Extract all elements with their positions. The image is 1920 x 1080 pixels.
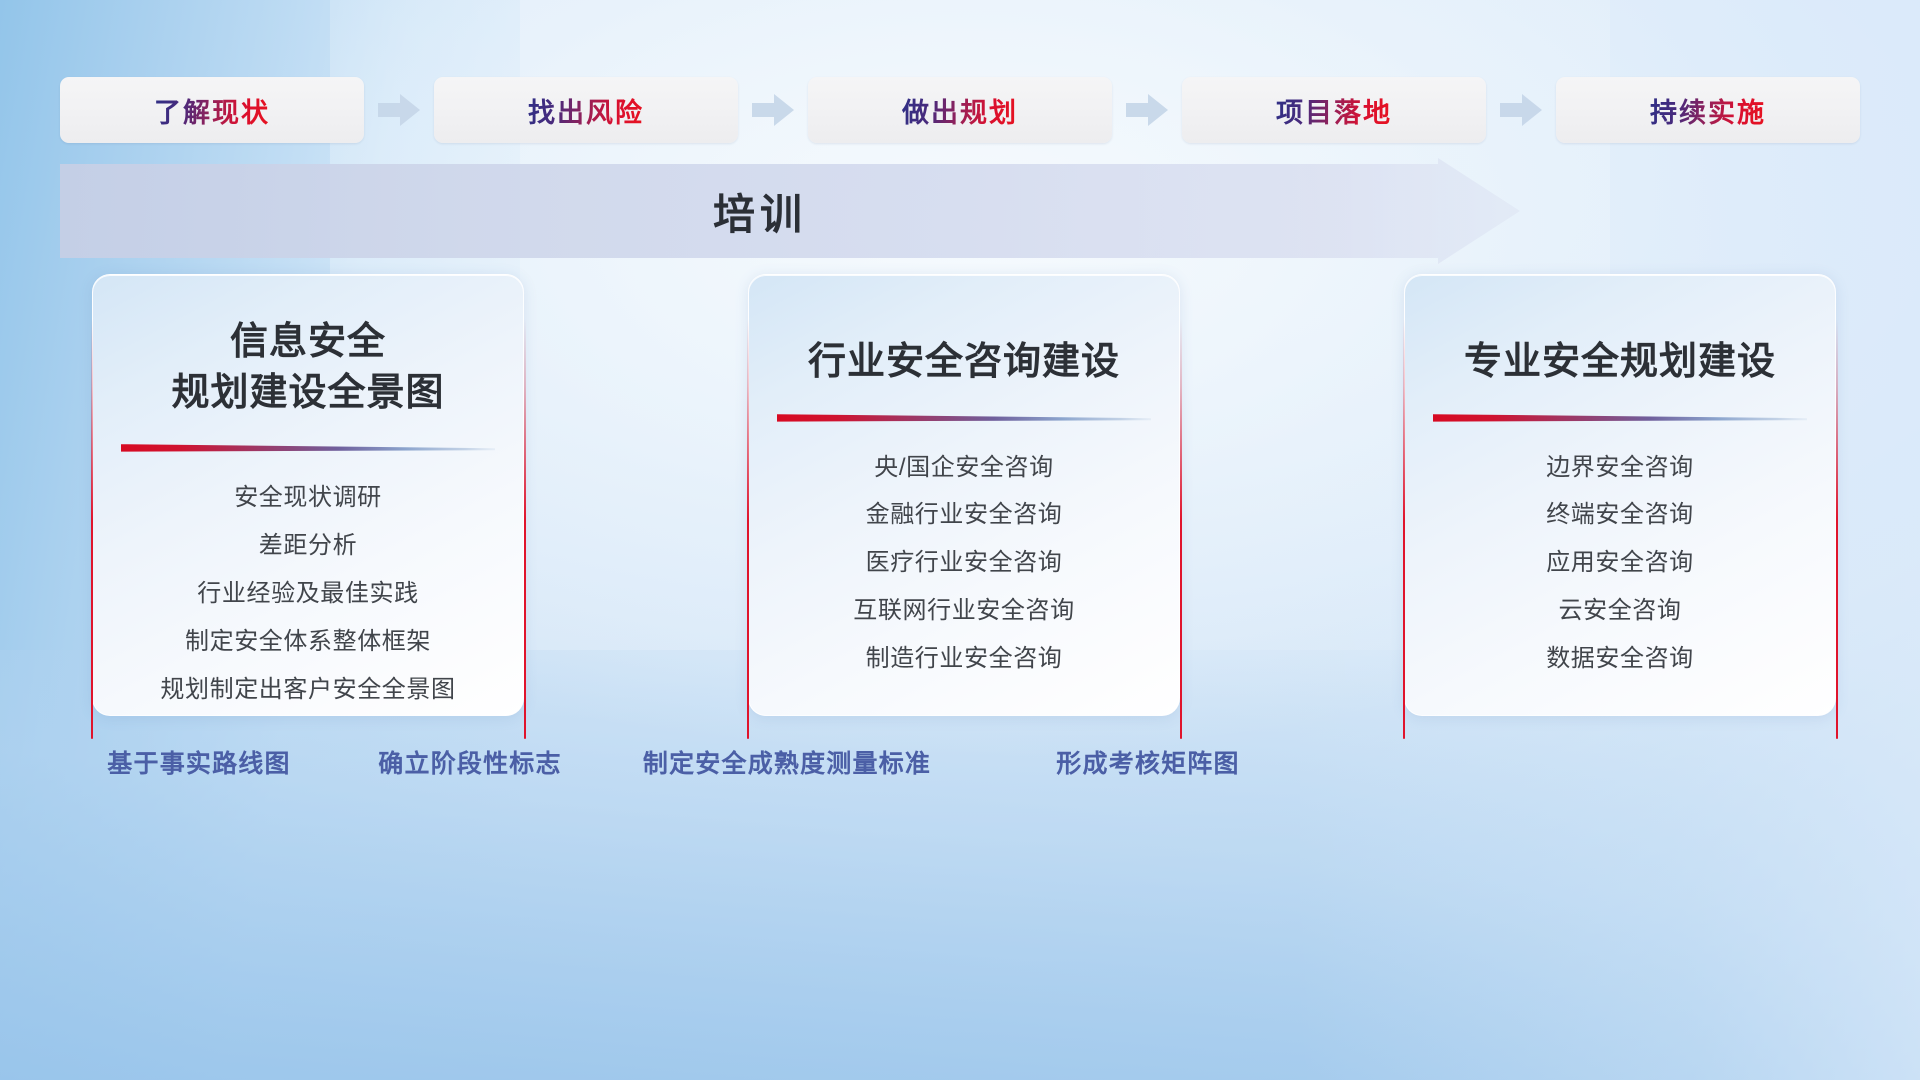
step-connector-3	[1112, 90, 1182, 130]
card-3-left-accent-rail	[1403, 319, 1405, 739]
arrow-right-icon	[378, 93, 420, 127]
list-item[interactable]: 云安全咨询	[1559, 592, 1682, 631]
step-box-5[interactable]: 持续实施	[1556, 77, 1860, 143]
footer-label-1: 基于事实路线图	[107, 744, 290, 780]
footer-labels-row: 基于事实路线图确立阶段性标志制定安全成熟度测量标准形成考核矩阵图	[0, 744, 1920, 788]
step-box-1[interactable]: 了解现状	[60, 77, 364, 143]
card-2[interactable]: 行业安全咨询建设央/国企安全咨询金融行业安全咨询医疗行业安全咨询互联网行业安全咨…	[748, 274, 1180, 716]
list-item[interactable]: 边界安全咨询	[1546, 449, 1694, 488]
banner-title: 培训	[60, 158, 1460, 264]
step-box-3[interactable]: 做出规划	[808, 77, 1112, 143]
training-banner: 培训	[60, 158, 1520, 264]
list-item[interactable]: 制造行业安全咨询	[866, 640, 1063, 679]
list-item[interactable]: 安全现状调研	[234, 479, 382, 518]
card-1-divider	[121, 440, 495, 453]
list-item[interactable]: 行业经验及最佳实践	[197, 575, 418, 614]
step-label-4: 项目落地	[1276, 91, 1392, 130]
card-2-right-accent-rail	[1180, 319, 1182, 739]
arrow-right-icon	[1500, 93, 1542, 127]
cards-row: 信息安全 规划建设全景图安全现状调研差距分析行业经验及最佳实践制定安全体系整体框…	[92, 274, 1836, 716]
card-1[interactable]: 信息安全 规划建设全景图安全现状调研差距分析行业经验及最佳实践制定安全体系整体框…	[92, 274, 524, 716]
arrow-right-icon	[1126, 93, 1168, 127]
card-3-title: 专业安全规划建设	[1464, 337, 1776, 388]
step-connector-4	[1486, 90, 1556, 130]
list-item[interactable]: 终端安全咨询	[1546, 496, 1694, 535]
step-box-2[interactable]: 找出风险	[434, 77, 738, 143]
card-3-list: 边界安全咨询终端安全咨询应用安全咨询云安全咨询数据安全咨询	[1427, 449, 1813, 679]
process-steps-row: 了解现状找出风险做出规划项目落地持续实施	[60, 76, 1860, 144]
list-item[interactable]: 央/国企安全咨询	[874, 449, 1053, 488]
card-2-divider	[777, 410, 1151, 423]
list-item[interactable]: 医疗行业安全咨询	[866, 544, 1063, 583]
card-1-left-accent-rail	[91, 319, 93, 739]
list-item[interactable]: 制定安全体系整体框架	[185, 623, 431, 662]
step-connector-2	[738, 90, 808, 130]
list-item[interactable]: 规划制定出客户安全全景图	[160, 671, 455, 710]
card-3-divider	[1433, 410, 1807, 423]
card-3[interactable]: 专业安全规划建设边界安全咨询终端安全咨询应用安全咨询云安全咨询数据安全咨询	[1404, 274, 1836, 716]
step-label-1: 了解现状	[154, 91, 270, 130]
list-item[interactable]: 金融行业安全咨询	[866, 496, 1063, 535]
step-label-2: 找出风险	[528, 91, 644, 130]
card-1-list: 安全现状调研差距分析行业经验及最佳实践制定安全体系整体框架规划制定出客户安全全景…	[115, 479, 501, 709]
arrow-right-icon	[752, 93, 794, 127]
step-box-4[interactable]: 项目落地	[1182, 77, 1486, 143]
list-item[interactable]: 互联网行业安全咨询	[853, 592, 1074, 631]
card-2-list: 央/国企安全咨询金融行业安全咨询医疗行业安全咨询互联网行业安全咨询制造行业安全咨…	[771, 449, 1157, 679]
step-label-3: 做出规划	[902, 91, 1018, 130]
card-2-title: 行业安全咨询建设	[808, 337, 1120, 388]
list-item[interactable]: 应用安全咨询	[1546, 544, 1694, 583]
step-connector-1	[364, 90, 434, 130]
card-3-right-accent-rail	[1836, 319, 1838, 739]
step-label-5: 持续实施	[1650, 91, 1766, 130]
card-1-right-accent-rail	[524, 319, 526, 739]
list-item[interactable]: 差距分析	[259, 527, 357, 566]
footer-label-2: 确立阶段性标志	[378, 744, 561, 780]
footer-label-4: 形成考核矩阵图	[1056, 744, 1239, 780]
card-1-title: 信息安全 规划建设全景图	[171, 317, 444, 418]
list-item[interactable]: 数据安全咨询	[1546, 640, 1694, 679]
footer-label-3: 制定安全成熟度测量标准	[643, 744, 931, 780]
card-2-left-accent-rail	[747, 319, 749, 739]
